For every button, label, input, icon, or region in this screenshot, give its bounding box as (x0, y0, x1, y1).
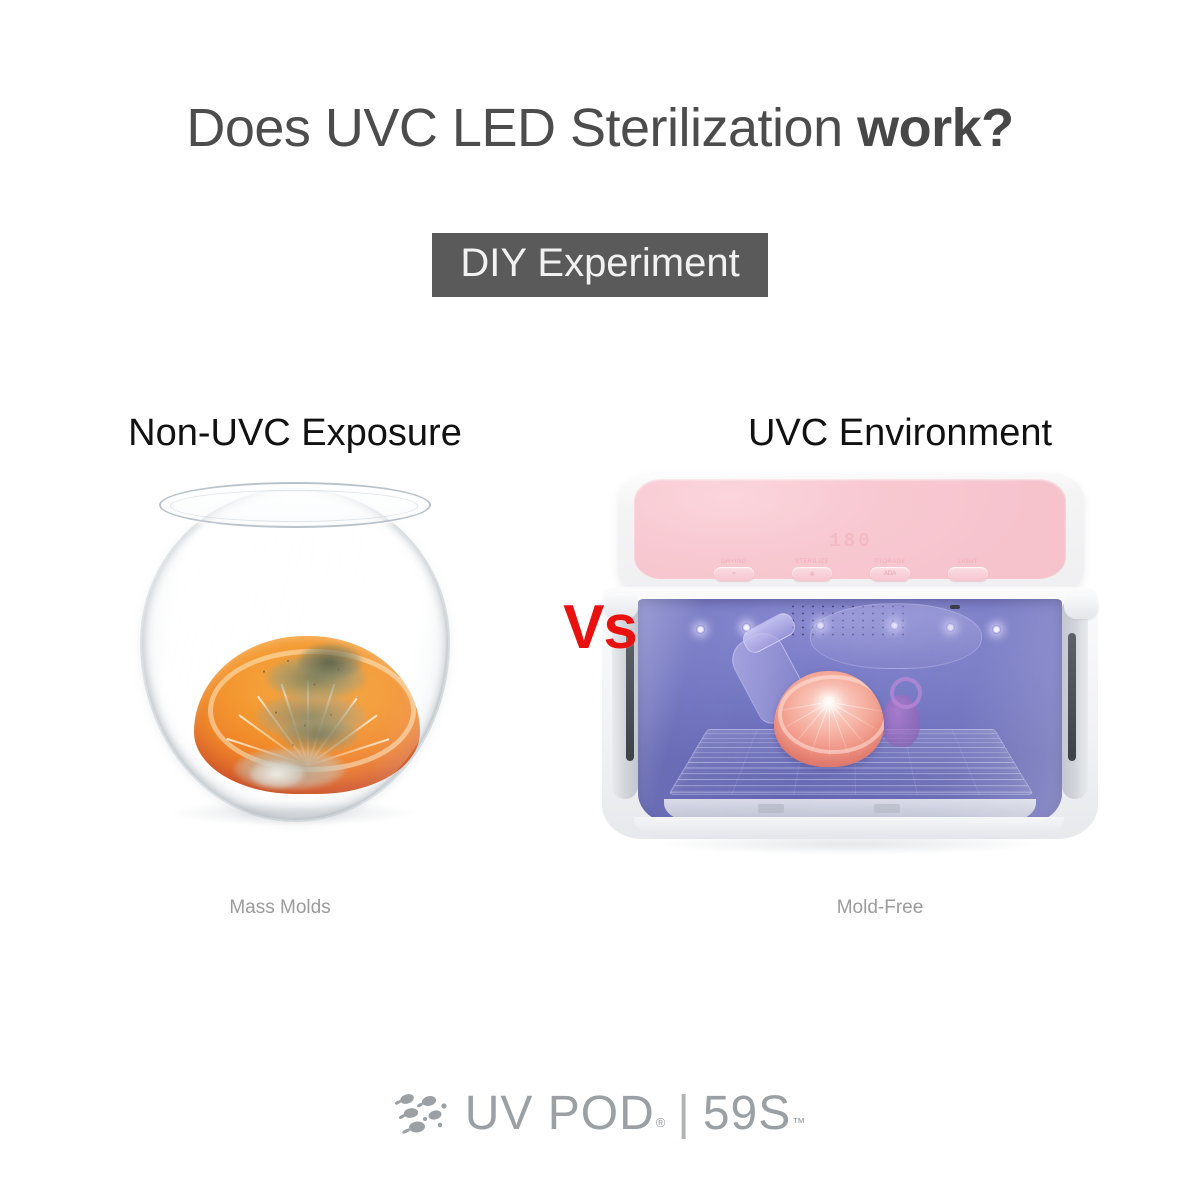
pod-button-key: ADA (870, 567, 910, 581)
pod-control-panel: DRYING ≈ STERILIZE ✲ STORAGE ADA LIGHT (714, 559, 988, 581)
bowl-drop-shadow (168, 800, 418, 826)
fresh-grapefruit-half (774, 671, 884, 767)
right-image-caption: Mold-Free (600, 897, 1160, 919)
versus-label: Vs (0, 592, 1200, 663)
pod-button-label: STERILIZE (795, 559, 829, 565)
brand-logo-text: UV POD®|59S™ (465, 1086, 806, 1141)
tray-notch (758, 804, 784, 813)
poster-canvas: Does UVC LED Sterilization work? DIY Exp… (0, 0, 1200, 1200)
logo-separator: | (677, 1086, 690, 1141)
uvc-device-image: 180 DRYING ≈ STERILIZE ✲ STORAGE ADA LIG… (600, 465, 1100, 875)
badge-row: DIY Experiment (0, 233, 1200, 297)
model-name: 59S (703, 1086, 791, 1141)
diy-experiment-badge: DIY Experiment (432, 233, 767, 297)
pod-button-drying[interactable]: DRYING ≈ (714, 559, 754, 581)
pod-button-key: ≈ (714, 567, 754, 581)
left-column-heading: Non-UVC Exposure (0, 412, 590, 455)
germ-icon (395, 1091, 451, 1137)
bowl-rim-inner (170, 490, 418, 522)
pod-button-label: LIGHT (958, 559, 978, 565)
pod-display: 180 (829, 530, 872, 552)
trademark-mark: ™ (792, 1115, 805, 1130)
pod-base (634, 817, 1064, 839)
chamber-item-pacifier-ring (890, 677, 922, 709)
page-title: Does UVC LED Sterilization work? (0, 97, 1200, 159)
pod-button-light[interactable]: LIGHT (948, 559, 988, 581)
grapefruit-core-highlight (821, 696, 837, 708)
pod-button-label: DRYING (721, 559, 747, 565)
pod-button-key (948, 567, 988, 581)
pod-lid: 180 DRYING ≈ STERILIZE ✲ STORAGE ADA LIG… (618, 473, 1084, 595)
pod-button-key: ✲ (792, 567, 832, 581)
mold-spores (252, 650, 372, 758)
brand-footer: UV POD®|59S™ (0, 1086, 1200, 1141)
right-column-heading: UVC Environment (600, 412, 1200, 455)
pod-button-sterilize[interactable]: STERILIZE ✲ (792, 559, 832, 581)
tray-notch (874, 804, 900, 813)
pod-button-storage[interactable]: STORAGE ADA (870, 559, 910, 581)
non-uvc-specimen-image (128, 470, 458, 870)
left-image-caption: Mass Molds (0, 897, 560, 919)
mold-patch (250, 760, 304, 788)
page-title-emphasis: work? (857, 98, 1014, 158)
registered-mark: ® (656, 1115, 666, 1130)
pod-button-label: STORAGE (874, 559, 906, 565)
brand-name: UV POD (465, 1086, 655, 1141)
page-title-regular: Does UVC LED Sterilization (186, 98, 857, 158)
